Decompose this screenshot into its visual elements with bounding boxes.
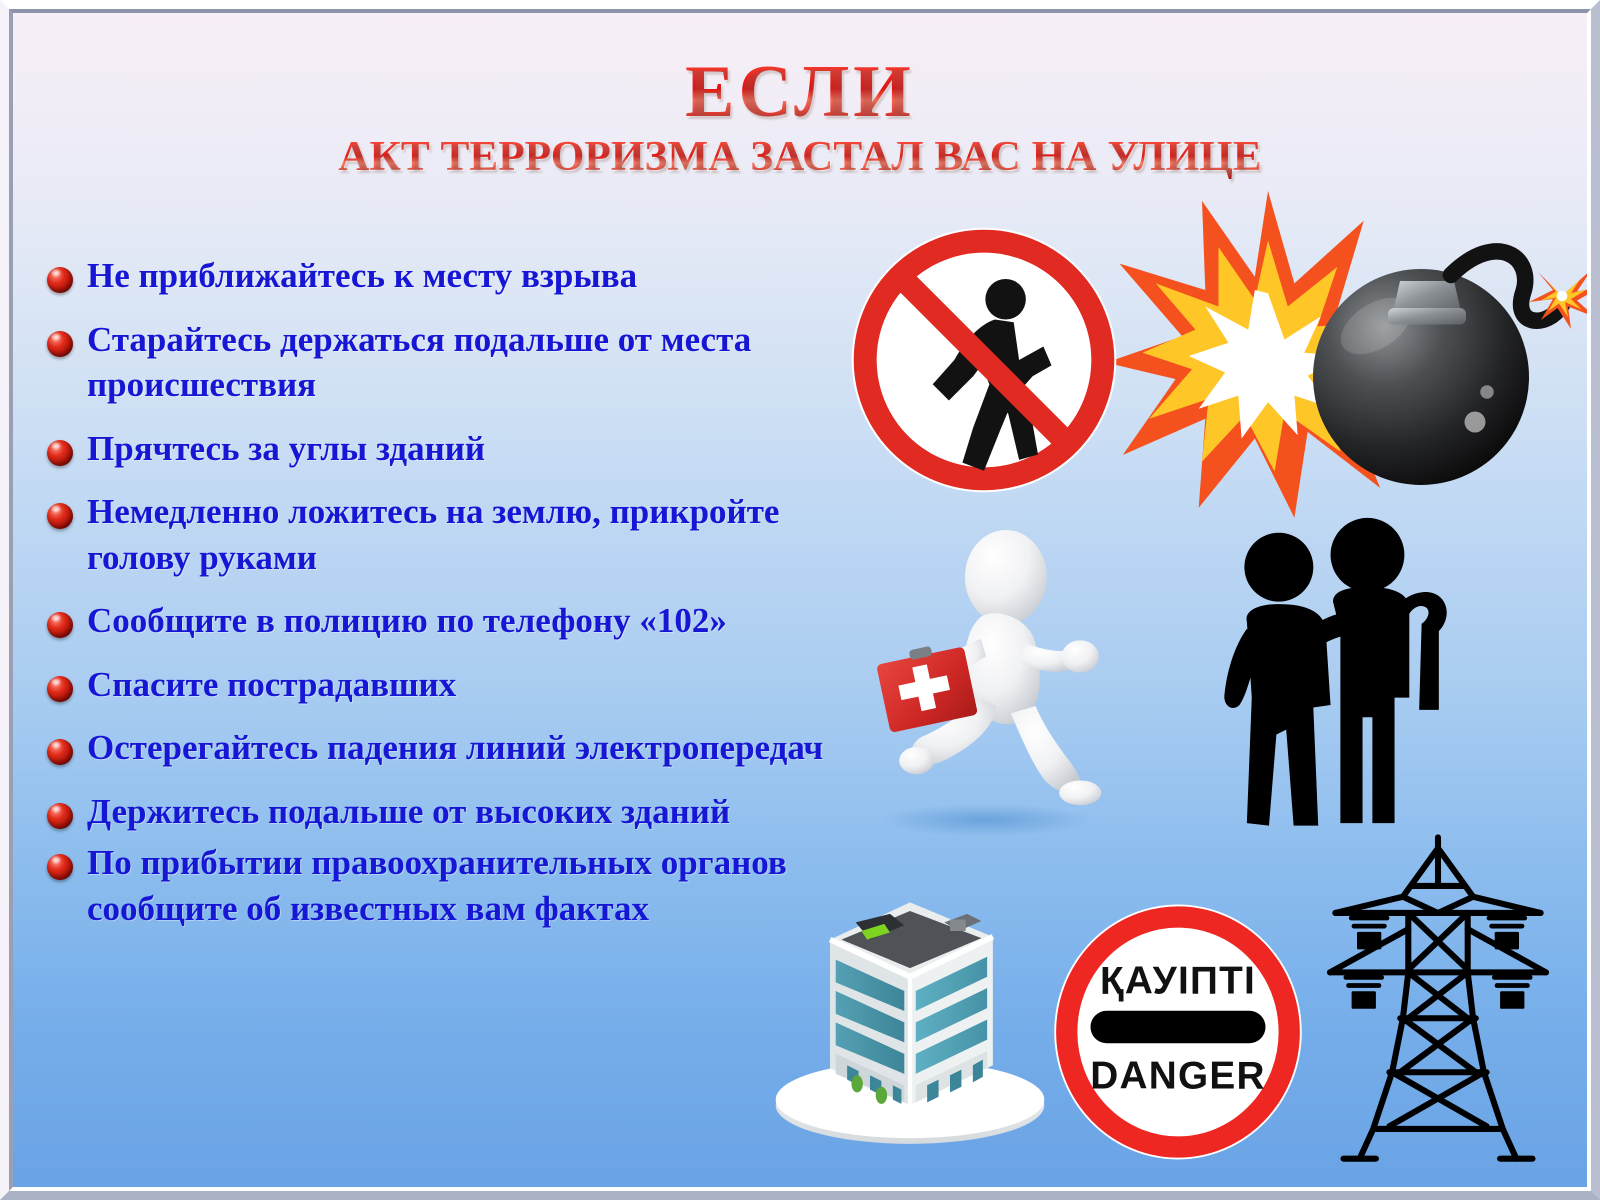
poster-heading-block: ЕСЛИ АКТ ТЕРРОРИЗМА ЗАСТАЛ ВАС НА УЛИЦЕ	[13, 57, 1587, 179]
electricity-transmission-tower-icon	[1303, 828, 1573, 1168]
bullet-dot-icon	[47, 612, 73, 638]
list-item: По прибытии правоохранительных органов с…	[47, 840, 837, 931]
page-title: ЕСЛИ	[685, 57, 915, 127]
bullet-dot-icon	[47, 503, 73, 529]
bullet-dot-icon	[47, 739, 73, 765]
list-item: Не приближайтесь к месту взрыва	[47, 253, 837, 299]
no-pedestrians-sign-icon	[849, 225, 1119, 495]
bullet-dot-icon	[47, 854, 73, 880]
danger-sign-text-top: ҚАУІПТІ	[1100, 959, 1256, 1002]
list-item-label: По прибытии правоохранительных органов с…	[87, 840, 837, 931]
bomb-with-lit-fuse-icon	[1283, 203, 1583, 503]
poster-root: ЕСЛИ АКТ ТЕРРОРИЗМА ЗАСТАЛ ВАС НА УЛИЦЕ …	[0, 0, 1600, 1200]
list-item-label: Остерегайтесь падения линий электроперед…	[87, 725, 823, 771]
list-item: Держитесь подальше от высоких зданий	[47, 789, 837, 835]
bullet-dot-icon	[47, 267, 73, 293]
poster-canvas: ЕСЛИ АКТ ТЕРРОРИЗМА ЗАСТАЛ ВАС НА УЛИЦЕ …	[13, 13, 1587, 1187]
list-item: Старайтесь держаться подальше от места п…	[47, 317, 837, 408]
list-item: Сообщите в полицию по телефону «102»	[47, 598, 837, 644]
list-item-label: Старайтесь держаться подальше от места п…	[87, 317, 837, 408]
danger-sign-bar	[1091, 1011, 1266, 1044]
running-figure-with-first-aid-kit-icon	[861, 525, 1111, 835]
danger-road-sign: ҚАУІПТІ DANGER	[1053, 903, 1303, 1161]
list-item-label: Немедленно ложитесь на землю, прикройте …	[87, 489, 837, 580]
bullet-dot-icon	[47, 676, 73, 702]
list-item-label: Сообщите в полицию по телефону «102»	[87, 598, 727, 644]
list-item-label: Прячтесь за углы зданий	[87, 426, 485, 472]
page-subtitle: АКТ ТЕРРОРИЗМА ЗАСТАЛ ВАС НА УЛИЦЕ	[13, 135, 1587, 179]
list-item: Прячтесь за углы зданий	[47, 426, 837, 472]
list-item-label: Держитесь подальше от высоких зданий	[87, 789, 730, 835]
list-item: Немедленно ложитесь на землю, прикройте …	[47, 489, 837, 580]
danger-sign-text-bottom: DANGER	[1090, 1054, 1265, 1097]
bullet-dot-icon	[47, 331, 73, 357]
tall-office-building-icon	[765, 851, 1055, 1151]
list-item-label: Не приближайтесь к месту взрыва	[87, 253, 637, 299]
person-helping-injured-person-icon	[1208, 513, 1458, 833]
list-item: Спасите пострадавших	[47, 662, 837, 708]
bullet-dot-icon	[47, 440, 73, 466]
instruction-list: Не приближайтесь к месту взрыва Старайте…	[47, 253, 837, 937]
list-item: Остерегайтесь падения линий электроперед…	[47, 725, 837, 771]
bullet-dot-icon	[47, 803, 73, 829]
list-item-label: Спасите пострадавших	[87, 662, 456, 708]
